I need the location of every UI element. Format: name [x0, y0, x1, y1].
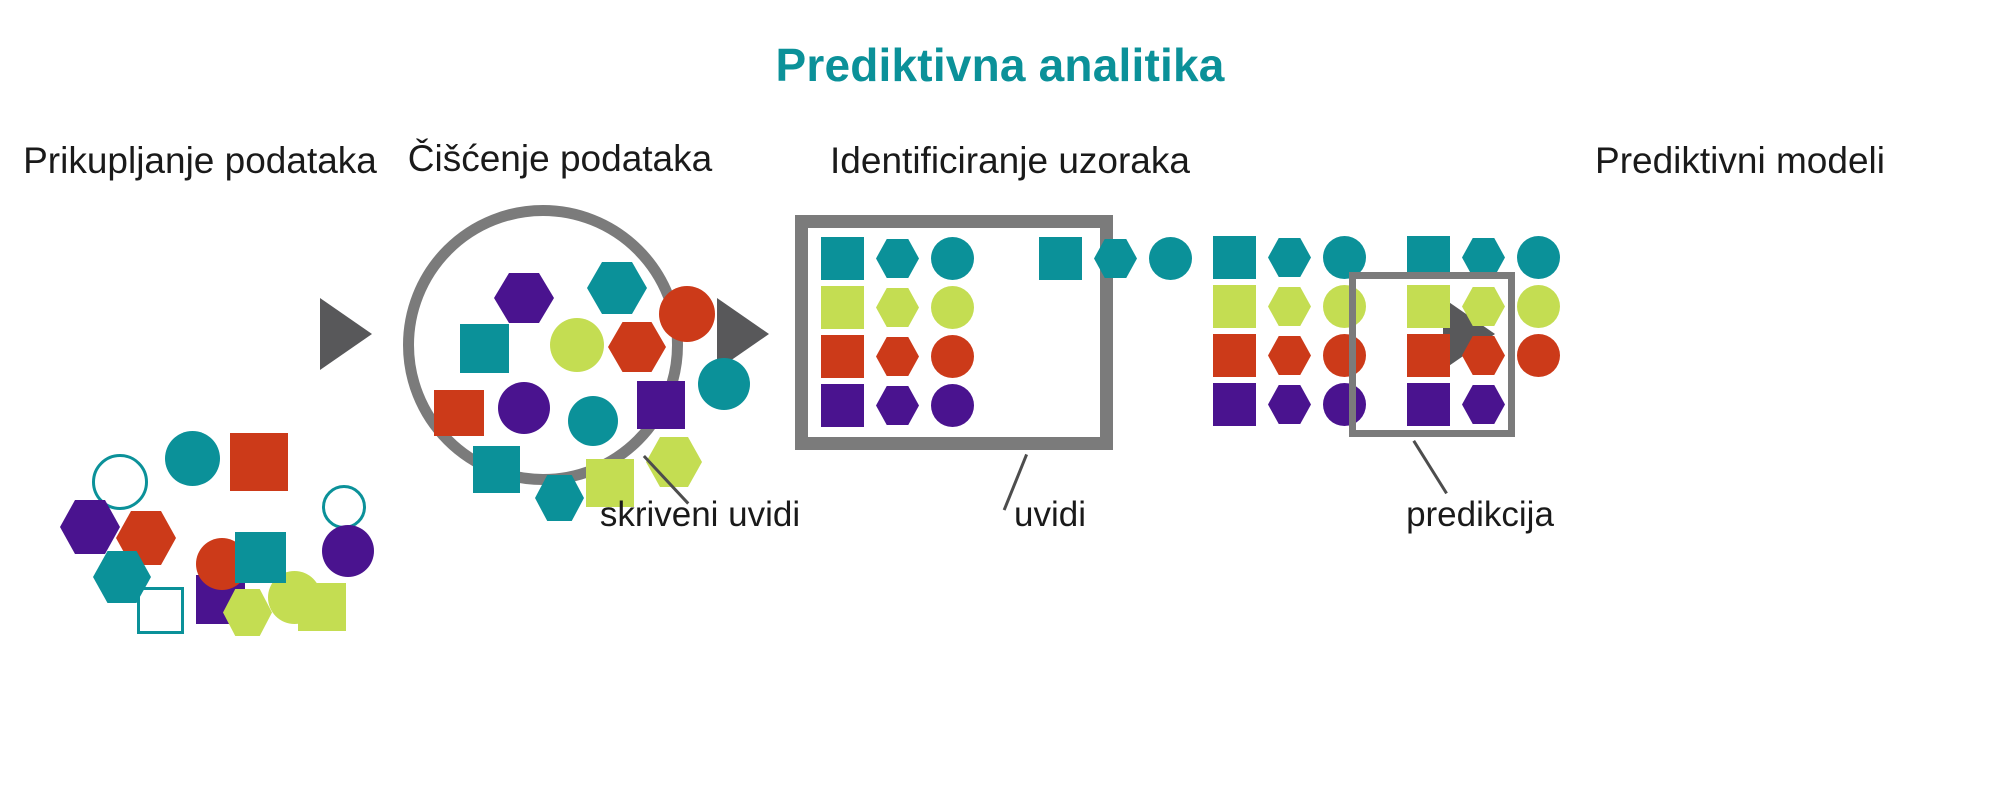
purple-hexagon-shape	[876, 386, 919, 425]
teal-circle-shape	[165, 431, 220, 486]
lime-circle-shape	[931, 286, 974, 329]
bottom-label-skriveni-uvidi: skriveni uvidi	[500, 495, 900, 535]
teal-circle-shape	[1149, 237, 1192, 280]
panel-heading-data-cleaning: Čišćenje podataka	[350, 138, 770, 180]
lime-circle-shape	[1517, 285, 1560, 328]
red-square-shape	[821, 335, 864, 378]
lime-circle-shape	[550, 318, 604, 372]
red-square-shape	[230, 433, 288, 491]
bottom-label-uvidi: uvidi	[900, 495, 1200, 535]
lime-hexagon-shape	[876, 288, 919, 327]
prediction-selection-frame	[1349, 272, 1515, 437]
page-title: Prediktivna analitika	[0, 38, 2000, 92]
outline-teal-square-shape	[137, 587, 184, 634]
red-square-shape	[434, 390, 484, 436]
purple-square-shape	[1213, 383, 1256, 426]
teal-hexagon-shape	[587, 262, 647, 314]
red-hexagon-shape	[1268, 336, 1311, 375]
leader-line-predikcija	[1412, 440, 1447, 494]
red-circle-shape	[659, 286, 715, 342]
purple-square-shape	[637, 381, 685, 429]
red-circle-shape	[931, 335, 974, 378]
outline-teal-circle-shape	[322, 485, 366, 529]
panel-heading-pattern-identification: Identificiranje uzoraka	[780, 140, 1240, 182]
teal-square-shape	[460, 324, 509, 373]
teal-square-shape	[235, 532, 286, 583]
lime-square-shape	[298, 583, 346, 631]
teal-hexagon-shape	[1094, 239, 1137, 278]
lime-square-shape	[821, 286, 864, 329]
red-circle-shape	[1517, 334, 1560, 377]
teal-square-shape	[473, 446, 520, 493]
panel-heading-predictive-models: Prediktivni modeli	[1340, 140, 2000, 182]
teal-hexagon-shape	[876, 239, 919, 278]
panel-data-collection	[30, 200, 390, 480]
red-square-shape	[1213, 334, 1256, 377]
infographic-canvas: Prediktivna analitika Prikupljanje podat…	[0, 0, 2000, 800]
teal-square-shape	[1213, 236, 1256, 279]
purple-hexagon-shape	[494, 273, 554, 323]
teal-square-shape	[1039, 237, 1082, 280]
red-hexagon-shape	[608, 322, 666, 372]
purple-circle-shape	[322, 525, 374, 577]
red-hexagon-shape	[876, 337, 919, 376]
teal-hexagon-shape	[1268, 238, 1311, 277]
lime-square-shape	[1213, 285, 1256, 328]
purple-circle-shape	[931, 384, 974, 427]
purple-square-shape	[821, 384, 864, 427]
purple-circle-shape	[498, 382, 550, 434]
purple-hexagon-shape	[1268, 385, 1311, 424]
teal-circle-shape	[568, 396, 618, 446]
teal-circle-shape	[1517, 236, 1560, 279]
lime-hexagon-shape	[646, 437, 702, 487]
teal-circle-shape	[698, 358, 750, 410]
teal-circle-shape	[931, 237, 974, 280]
bottom-label-predikcija: predikcija	[1280, 495, 1680, 535]
panel-pattern-identification	[795, 215, 1113, 450]
lime-hexagon-shape	[1268, 287, 1311, 326]
panel-heading-data-collection: Prikupljanje podataka	[0, 140, 400, 182]
teal-square-shape	[821, 237, 864, 280]
panel-data-cleaning	[403, 205, 683, 485]
